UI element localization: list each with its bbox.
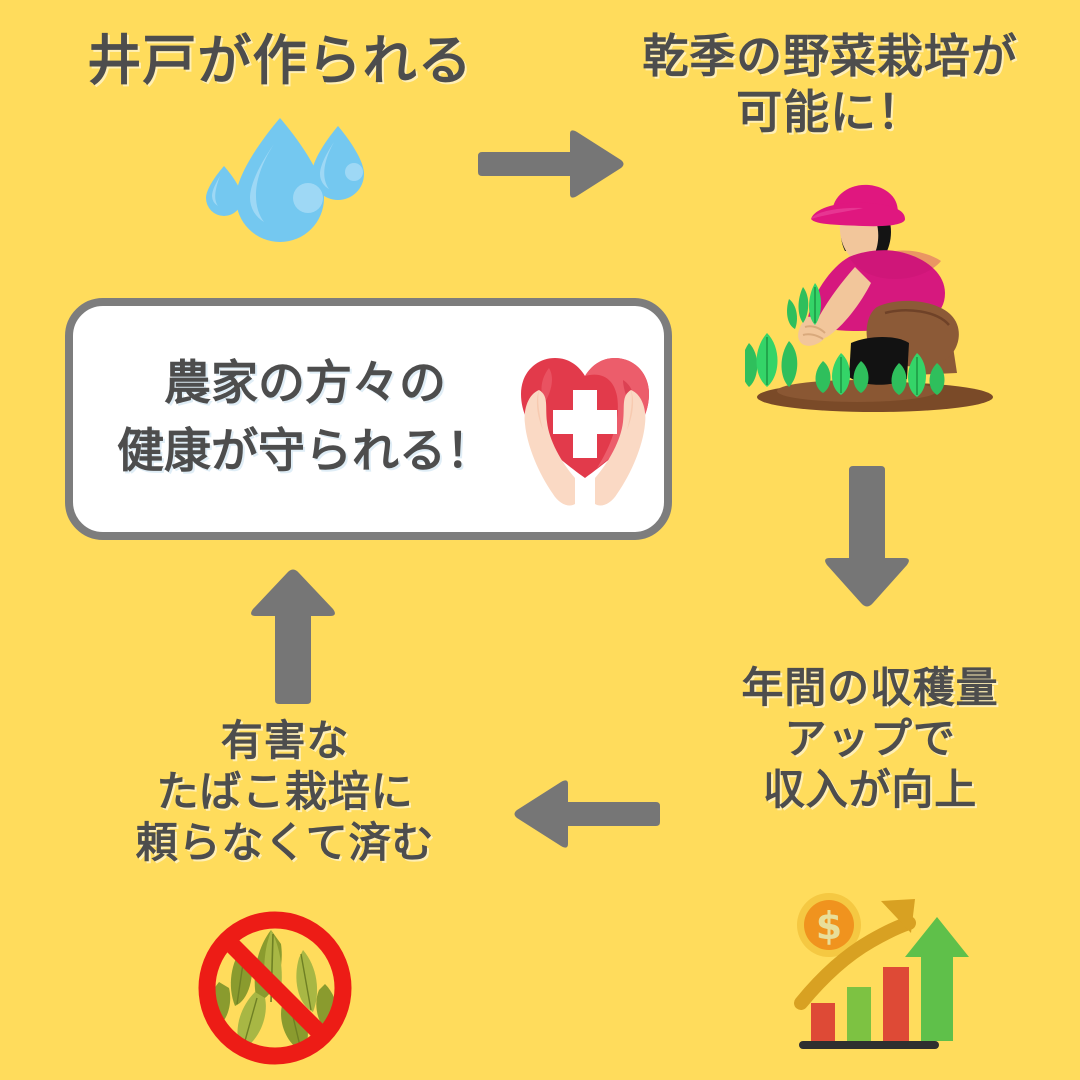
node-label-dry-season: 乾季の野菜栽培が 可能に！ bbox=[605, 28, 1055, 140]
farmer-planting-icon bbox=[745, 175, 995, 415]
health-callout-box: 農家の方々の 健康が守られる！ bbox=[65, 298, 672, 540]
water-drops-icon bbox=[190, 110, 380, 245]
growth-chart-money-icon: $ bbox=[785, 885, 985, 1060]
arrow-left-bottom bbox=[512, 778, 660, 850]
heart-in-hands-icon bbox=[505, 328, 665, 518]
arrow-down-right bbox=[822, 462, 912, 610]
svg-text:$: $ bbox=[816, 904, 842, 948]
no-tobacco-icon bbox=[185, 900, 365, 1075]
arrow-up-left bbox=[248, 568, 338, 708]
infographic-canvas: 井戸が作られる 乾季の野菜栽培が 可能に！ bbox=[0, 0, 1080, 1080]
node-label-income: 年間の収穫量 アップで 収入が向上 bbox=[700, 662, 1040, 816]
arrow-right-top bbox=[478, 128, 626, 200]
node-label-health: 農家の方々の 健康が守られる！ bbox=[95, 350, 515, 486]
node-label-no-tobacco: 有害な たばこ栽培に 頼らなくて済む bbox=[70, 715, 500, 869]
page-title: 井戸が作られる bbox=[30, 28, 530, 94]
